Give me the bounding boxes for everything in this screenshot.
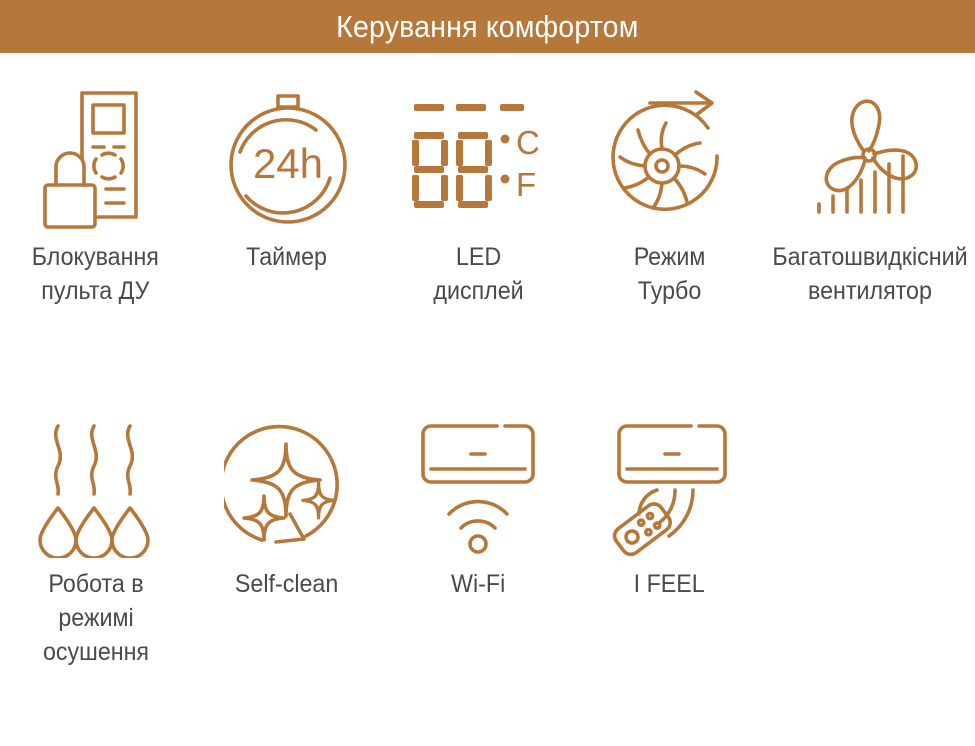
- feature-label: Wi-Fi: [451, 568, 505, 602]
- feature-remote-lock[interactable]: Блокування пульта ДУ: [0, 53, 191, 391]
- feature-led-display[interactable]: C F LED дисплей: [383, 53, 574, 391]
- feature-dehumidify[interactable]: Робота в режимі осушення: [0, 391, 191, 746]
- led-display-icon: C F: [408, 53, 548, 253]
- page-title: Керування комфортом: [336, 11, 638, 42]
- feature-wifi[interactable]: Wi-Fi: [383, 391, 574, 746]
- ac-remote-ifeel-icon: [599, 391, 739, 576]
- timer-24h-icon: 24h: [222, 53, 352, 253]
- turbo-fan-icon: [604, 53, 734, 253]
- dehumidify-drops-icon: [36, 391, 156, 576]
- self-clean-sparkle-icon: [224, 391, 349, 576]
- feature-label: Багатошвидкісний вентилятор: [772, 241, 967, 309]
- feature-label: I FEEL: [634, 568, 705, 602]
- svg-text:C: C: [516, 124, 540, 161]
- feature-label: Таймер: [246, 241, 327, 275]
- feature-label: LED дисплей: [433, 241, 523, 309]
- multi-speed-fan-icon: [805, 53, 935, 253]
- ac-wifi-icon: [413, 391, 543, 576]
- svg-text:F: F: [516, 166, 536, 203]
- feature-timer[interactable]: 24h Таймер: [191, 53, 382, 391]
- feature-label: Робота в режимі осушення: [43, 568, 149, 669]
- feature-label: Self-clean: [235, 568, 338, 602]
- feature-label: Блокування пульта ДУ: [32, 241, 159, 309]
- feature-turbo[interactable]: Режим Турбо: [574, 53, 765, 391]
- feature-multi-speed-fan[interactable]: Багатошвидкісний вентилятор: [765, 53, 975, 391]
- header-bar: Керування комфортом: [0, 0, 975, 53]
- feature-grid: Блокування пульта ДУ 24h Таймер: [0, 53, 975, 746]
- feature-self-clean[interactable]: Self-clean: [191, 391, 382, 746]
- feature-label: Режим Турбо: [634, 241, 706, 309]
- comfort-control-infographic: Керування комфортом: [0, 0, 975, 746]
- feature-ifeel[interactable]: I FEEL: [574, 391, 765, 746]
- remote-lock-icon: [36, 53, 156, 253]
- svg-text:24h: 24h: [253, 140, 323, 187]
